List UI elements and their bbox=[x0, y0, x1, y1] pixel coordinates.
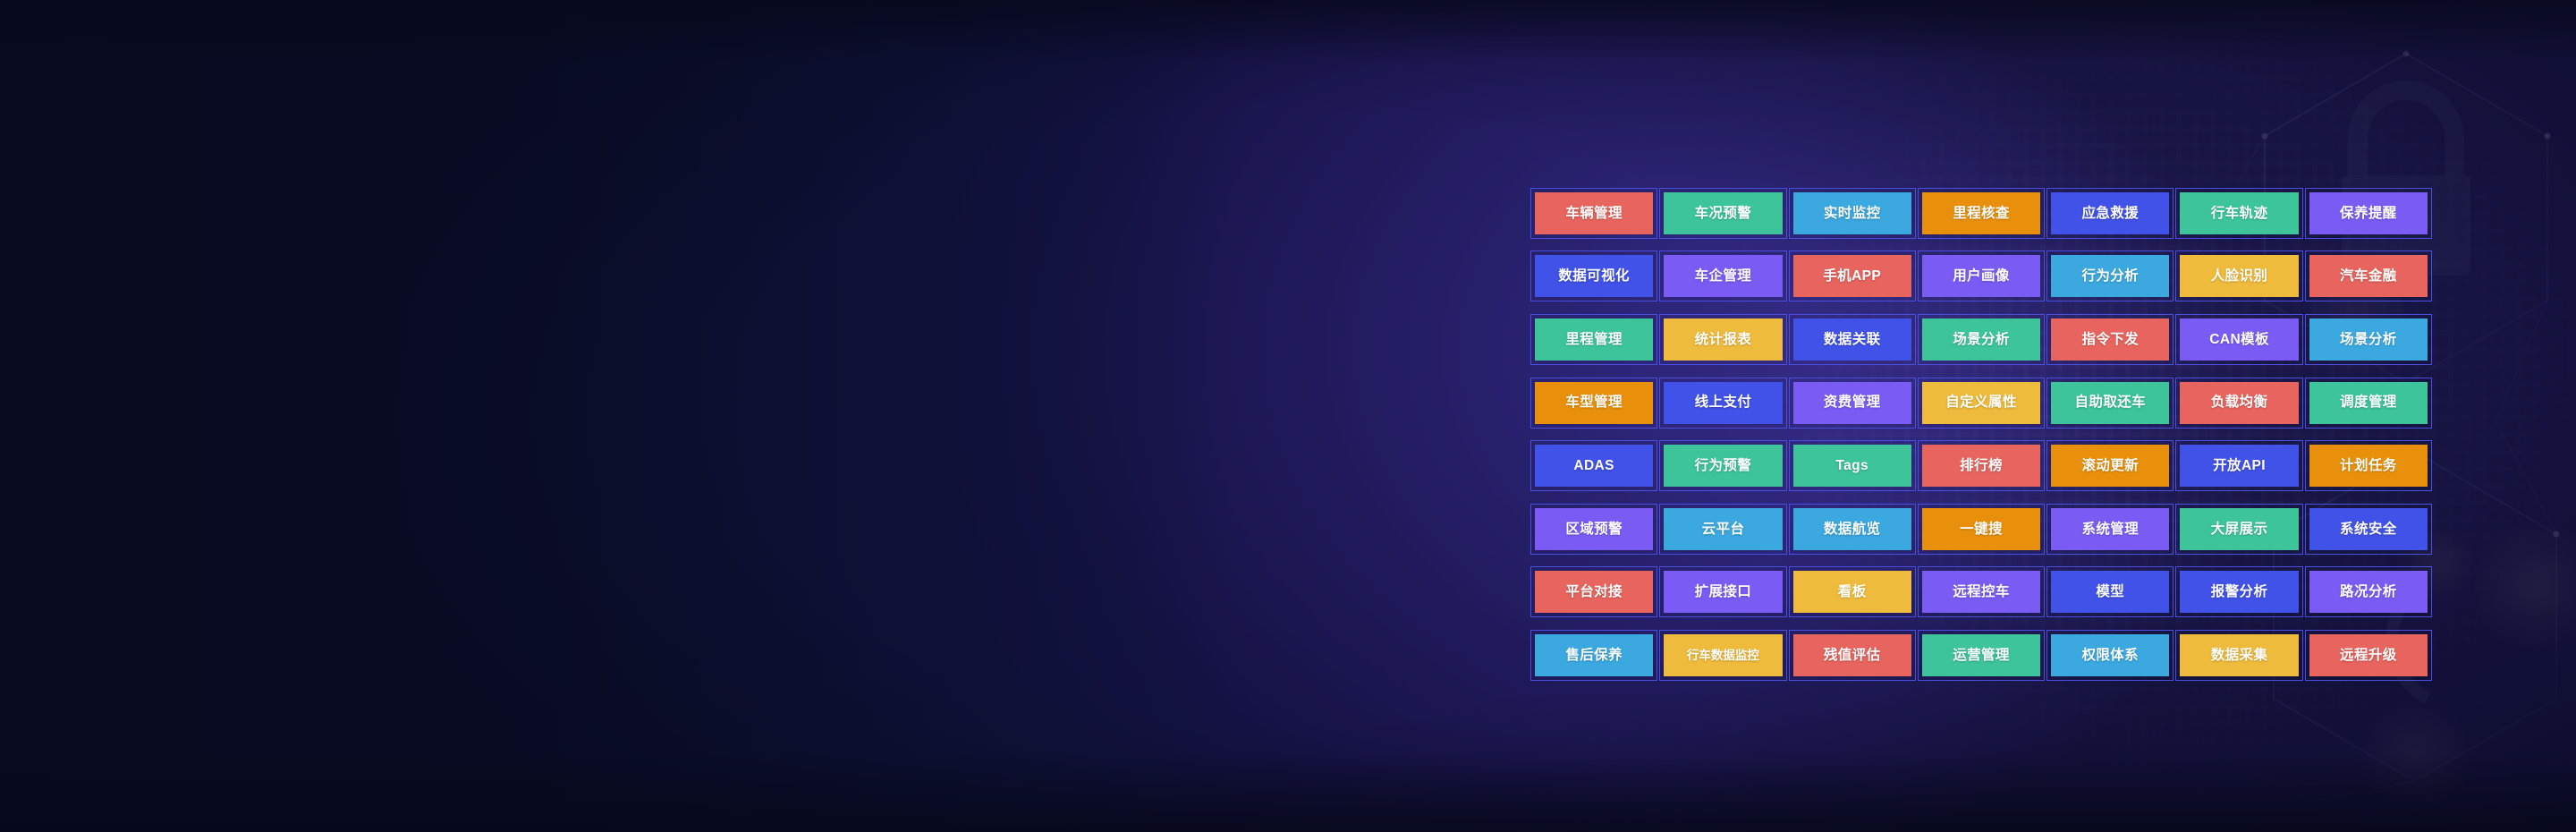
feature-tile[interactable]: 指令下发 bbox=[2051, 318, 2169, 361]
feature-tile-cell: 应急救援 bbox=[2046, 182, 2174, 245]
feature-tile-cell: 手机APP bbox=[1788, 245, 1917, 309]
feature-tile[interactable]: 人脸识别 bbox=[2180, 255, 2298, 297]
feature-tile[interactable]: 大屏展示 bbox=[2180, 508, 2298, 550]
feature-tile-cell: 系统安全 bbox=[2304, 497, 2433, 561]
feature-tile[interactable]: ADAS bbox=[1535, 445, 1653, 487]
feature-tile[interactable]: 云平台 bbox=[1664, 508, 1782, 550]
feature-tile[interactable]: 开放API bbox=[2180, 445, 2298, 487]
feature-tile-cell: 统计报表 bbox=[1658, 308, 1787, 371]
feature-tile[interactable]: 权限体系 bbox=[2051, 634, 2169, 676]
feature-tile[interactable]: 区域预警 bbox=[1535, 508, 1653, 550]
feature-tile-cell: 扩展接口 bbox=[1658, 561, 1787, 624]
feature-tile[interactable]: 报警分析 bbox=[2180, 571, 2298, 613]
feature-tile-cell: 数据航览 bbox=[1788, 497, 1917, 561]
feature-tile[interactable]: 运营管理 bbox=[1922, 634, 2040, 676]
feature-tile[interactable]: 线上支付 bbox=[1664, 382, 1782, 424]
feature-tile[interactable]: 路况分析 bbox=[2309, 571, 2428, 613]
feature-tile[interactable]: 自助取还车 bbox=[2051, 382, 2169, 424]
feature-tile-cell: 场景分析 bbox=[2304, 308, 2433, 371]
feature-tile-cell: 滚动更新 bbox=[2046, 434, 2174, 497]
feature-tile-cell: 负载均衡 bbox=[2174, 371, 2303, 435]
feature-tile-cell: ADAS bbox=[1529, 434, 1658, 497]
feature-tile[interactable]: CAN模板 bbox=[2180, 318, 2298, 361]
feature-tile[interactable]: 数据关联 bbox=[1793, 318, 1911, 361]
feature-tile-cell: 线上支付 bbox=[1658, 371, 1787, 435]
feature-tile[interactable]: 统计报表 bbox=[1664, 318, 1782, 361]
feature-tile[interactable]: 里程核查 bbox=[1922, 192, 2040, 234]
feature-tile[interactable]: 系统安全 bbox=[2309, 508, 2428, 550]
feature-tile-cell: 区域预警 bbox=[1529, 497, 1658, 561]
feature-tile-cell: 系统管理 bbox=[2046, 497, 2174, 561]
feature-tile-cell: 一键搜 bbox=[1917, 497, 2046, 561]
feature-tile-cell: 运营管理 bbox=[1917, 624, 2046, 687]
feature-tile-cell: 售后保养 bbox=[1529, 624, 1658, 687]
feature-tile-cell: 行车数据监控 bbox=[1658, 624, 1787, 687]
background-bottom-fade bbox=[0, 751, 2576, 832]
feature-tile-cell: 车辆管理 bbox=[1529, 182, 1658, 245]
feature-tile[interactable]: 调度管理 bbox=[2309, 382, 2428, 424]
feature-tile-cell: 里程核查 bbox=[1917, 182, 2046, 245]
feature-tile[interactable]: 资费管理 bbox=[1793, 382, 1911, 424]
feature-tile-cell: 残值评估 bbox=[1788, 624, 1917, 687]
feature-tile-cell: 权限体系 bbox=[2046, 624, 2174, 687]
feature-tile-cell: Tags bbox=[1788, 434, 1917, 497]
feature-tile[interactable]: 模型 bbox=[2051, 571, 2169, 613]
feature-tile-cell: 数据可视化 bbox=[1529, 245, 1658, 309]
feature-tile-cell: 车企管理 bbox=[1658, 245, 1787, 309]
feature-tile[interactable]: 手机APP bbox=[1793, 255, 1911, 297]
feature-tile-cell: 指令下发 bbox=[2046, 308, 2174, 371]
feature-tile-cell: 平台对接 bbox=[1529, 561, 1658, 624]
feature-tile-cell: 计划任务 bbox=[2304, 434, 2433, 497]
feature-tile[interactable]: 场景分析 bbox=[2309, 318, 2428, 361]
feature-tile-cell: 排行榜 bbox=[1917, 434, 2046, 497]
feature-tile[interactable]: 自定义属性 bbox=[1922, 382, 2040, 424]
feature-tile[interactable]: 行车轨迹 bbox=[2180, 192, 2298, 234]
feature-tile-cell: 人脸识别 bbox=[2174, 245, 2303, 309]
feature-tile[interactable]: 行车数据监控 bbox=[1664, 634, 1782, 676]
feature-tile[interactable]: 远程控车 bbox=[1922, 571, 2040, 613]
feature-tile[interactable]: 车型管理 bbox=[1535, 382, 1653, 424]
feature-tile[interactable]: 看板 bbox=[1793, 571, 1911, 613]
feature-tile-grid: 车辆管理车况预警实时监控里程核查应急救援行车轨迹保养提醒数据可视化车企管理手机A… bbox=[1529, 182, 2433, 687]
feature-tile-cell: 看板 bbox=[1788, 561, 1917, 624]
feature-tile-cell: 实时监控 bbox=[1788, 182, 1917, 245]
feature-tile-cell: 行为分析 bbox=[2046, 245, 2174, 309]
feature-tile[interactable]: 保养提醒 bbox=[2309, 192, 2428, 234]
feature-tile[interactable]: 应急救援 bbox=[2051, 192, 2169, 234]
feature-tile-cell: 远程升级 bbox=[2304, 624, 2433, 687]
feature-tile[interactable]: 售后保养 bbox=[1535, 634, 1653, 676]
feature-tile[interactable]: 数据可视化 bbox=[1535, 255, 1653, 297]
feature-tile-cell: 汽车金融 bbox=[2304, 245, 2433, 309]
feature-tile[interactable]: 排行榜 bbox=[1922, 445, 2040, 487]
feature-tile[interactable]: 一键搜 bbox=[1922, 508, 2040, 550]
feature-tile[interactable]: 残值评估 bbox=[1793, 634, 1911, 676]
feature-tile-cell: 车况预警 bbox=[1658, 182, 1787, 245]
feature-tile[interactable]: 滚动更新 bbox=[2051, 445, 2169, 487]
feature-tile-cell: 行车轨迹 bbox=[2174, 182, 2303, 245]
feature-tile[interactable]: 平台对接 bbox=[1535, 571, 1653, 613]
feature-tile-cell: 里程管理 bbox=[1529, 308, 1658, 371]
feature-tile-cell: 自助取还车 bbox=[2046, 371, 2174, 435]
feature-tile[interactable]: 数据航览 bbox=[1793, 508, 1911, 550]
feature-tile-cell: 模型 bbox=[2046, 561, 2174, 624]
feature-tile-cell: 远程控车 bbox=[1917, 561, 2046, 624]
feature-tile[interactable]: 场景分析 bbox=[1922, 318, 2040, 361]
feature-tile[interactable]: 计划任务 bbox=[2309, 445, 2428, 487]
feature-tile[interactable]: 里程管理 bbox=[1535, 318, 1653, 361]
feature-tile-cell: 数据关联 bbox=[1788, 308, 1917, 371]
feature-tile-cell: 用户画像 bbox=[1917, 245, 2046, 309]
feature-tile-cell: 大屏展示 bbox=[2174, 497, 2303, 561]
feature-tile[interactable]: 行为预警 bbox=[1664, 445, 1782, 487]
feature-tile-cell: 报警分析 bbox=[2174, 561, 2303, 624]
feature-tile-cell: 行为预警 bbox=[1658, 434, 1787, 497]
feature-tile[interactable]: 行为分析 bbox=[2051, 255, 2169, 297]
feature-tile-cell: 路况分析 bbox=[2304, 561, 2433, 624]
background-top-fade bbox=[0, 0, 2576, 63]
feature-tile[interactable]: 汽车金融 bbox=[2309, 255, 2428, 297]
feature-tile-cell: 资费管理 bbox=[1788, 371, 1917, 435]
feature-tile-cell: 车型管理 bbox=[1529, 371, 1658, 435]
feature-tile-cell: 场景分析 bbox=[1917, 308, 2046, 371]
feature-tile[interactable]: Tags bbox=[1793, 445, 1911, 487]
feature-tile-cell: 云平台 bbox=[1658, 497, 1787, 561]
feature-tile-cell: 自定义属性 bbox=[1917, 371, 2046, 435]
feature-tile[interactable]: 远程升级 bbox=[2309, 634, 2428, 676]
feature-tile[interactable]: 用户画像 bbox=[1922, 255, 2040, 297]
feature-tile-cell: 开放API bbox=[2174, 434, 2303, 497]
feature-tile-cell: CAN模板 bbox=[2174, 308, 2303, 371]
feature-tile-cell: 保养提醒 bbox=[2304, 182, 2433, 245]
feature-tile[interactable]: 实时监控 bbox=[1793, 192, 1911, 234]
feature-tile[interactable]: 负载均衡 bbox=[2180, 382, 2298, 424]
feature-tile-cell: 调度管理 bbox=[2304, 371, 2433, 435]
feature-tile[interactable]: 车况预警 bbox=[1664, 192, 1782, 234]
feature-tile-cell: 数据采集 bbox=[2174, 624, 2303, 687]
feature-tile[interactable]: 车企管理 bbox=[1664, 255, 1782, 297]
feature-tile[interactable]: 系统管理 bbox=[2051, 508, 2169, 550]
feature-tile[interactable]: 扩展接口 bbox=[1664, 571, 1782, 613]
feature-tile[interactable]: 车辆管理 bbox=[1535, 192, 1653, 234]
feature-tile[interactable]: 数据采集 bbox=[2180, 634, 2298, 676]
